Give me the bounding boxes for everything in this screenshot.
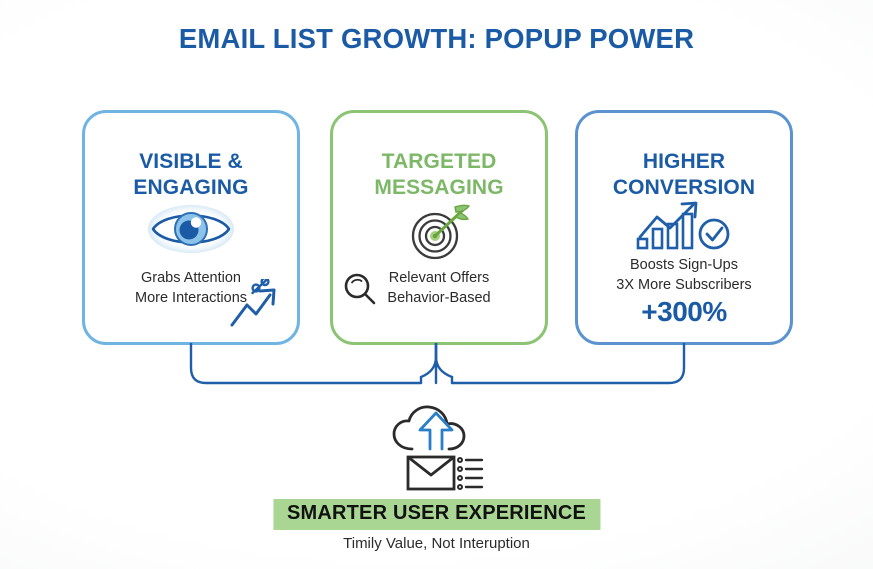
connector-bracket [0, 343, 873, 405]
target-dart-icon [403, 203, 475, 266]
card-body-higher-conversion: Boosts Sign-Ups 3X More Subscribers [578, 255, 790, 295]
footer-subtitle: Timily Value, Not Interuption [0, 535, 873, 552]
card-higher-conversion[interactable]: HIGHER CONVERSION Boosts Sign-Up [575, 110, 793, 345]
conversion-stat: +300% [578, 296, 790, 328]
cloud-upload-email-icon [386, 403, 488, 496]
card-visible-engaging[interactable]: VISIBLE & ENGAGING Grabs Attention [82, 110, 300, 345]
card-title-targeted-messaging: TARGETED MESSAGING [333, 149, 545, 201]
percent-growth-arrow-icon [227, 279, 289, 336]
bar-chart-growth-check-icon [630, 199, 738, 258]
card-title-line2: CONVERSION [613, 176, 755, 199]
infographic-canvas: EMAIL LIST GROWTH: POPUP POWER VISIBLE &… [0, 0, 873, 569]
card-title-line1: HIGHER [643, 150, 725, 173]
card-body-line1: Boosts Sign-Ups [578, 255, 790, 275]
eye-icon [148, 205, 234, 258]
card-body-line2: 3X More Subscribers [578, 275, 790, 295]
card-title-line1: TARGETED [382, 150, 497, 173]
card-title-line1: VISIBLE & [139, 150, 243, 173]
card-title-line2: MESSAGING [374, 176, 503, 199]
page-title: EMAIL LIST GROWTH: POPUP POWER [0, 23, 873, 55]
card-title-higher-conversion: HIGHER CONVERSION [578, 149, 790, 201]
magnifying-glass-icon [341, 271, 379, 314]
status-banner: SMARTER USER EXPERIENCE [273, 499, 600, 530]
card-targeted-messaging[interactable]: TARGETED MESSAGING Relevant Offers Behav… [330, 110, 548, 345]
card-title-line2: ENGAGING [133, 176, 248, 199]
card-title-visible-engaging: VISIBLE & ENGAGING [85, 149, 297, 201]
